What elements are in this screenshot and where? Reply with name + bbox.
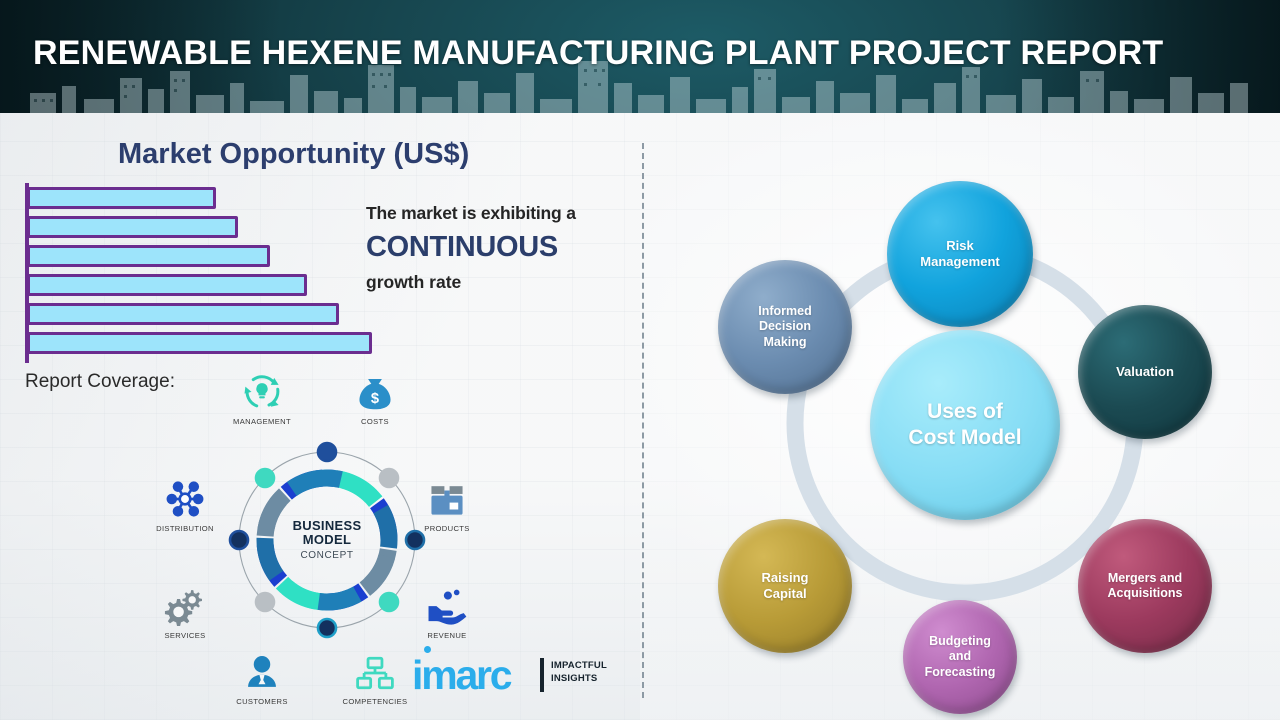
svg-text:$: $	[371, 391, 379, 407]
donut-subtitle: CONCEPT	[300, 550, 353, 561]
bar-row	[27, 274, 307, 296]
open-box-icon	[401, 473, 493, 519]
recycle-lightbulb-icon	[216, 366, 308, 412]
bar-row	[27, 332, 372, 354]
coverage-label-costs: COSTS	[329, 417, 421, 426]
page-header: RENEWABLE HEXENE MANUFACTURING PLANT PRO…	[0, 0, 1280, 113]
logo-tagline: IMPACTFUL INSIGHTS	[551, 660, 607, 686]
node-label-informed-decision-making: InformedDecisionMaking	[752, 304, 817, 350]
node-raising-capital[interactable]: RaisingCapital	[718, 519, 852, 653]
logo-wordmark: imarc	[412, 655, 510, 696]
coverage-label-management: MANAGEMENT	[216, 417, 308, 426]
coverage-item-distribution: DISTRIBUTION	[139, 473, 231, 533]
node-label-valuation: Valuation	[1110, 364, 1180, 380]
callout-line-3: growth rate	[366, 272, 641, 293]
vertical-dashed-divider	[642, 143, 644, 698]
uses-of-cost-model-diagram: RiskManagement Valuation Mergers andAcqu…	[660, 123, 1280, 713]
node-informed-decision-making[interactable]: InformedDecisionMaking	[718, 260, 852, 394]
org-chart-icon	[329, 646, 421, 692]
node-label-mergers-acquisitions: Mergers andAcquisitions	[1101, 571, 1188, 602]
logo-divider-bar	[540, 658, 544, 692]
network-nodes-icon	[139, 473, 231, 519]
callout-line-1: The market is exhibiting a	[366, 203, 641, 224]
bar-row	[27, 216, 238, 238]
callout-highlight: CONTINUOUS	[366, 231, 641, 264]
imarc-logo: imarc IMPACTFUL INSIGHTS	[412, 655, 510, 701]
market-opportunity-bar-chart	[25, 183, 425, 363]
coverage-item-competencies: COMPETENCIES	[329, 646, 421, 706]
bar-row	[27, 187, 216, 209]
node-label-risk-management: RiskManagement	[914, 238, 1005, 270]
donut-title-line2: MODEL	[303, 533, 351, 548]
coverage-label-services: SERVICES	[139, 631, 231, 640]
market-opportunity-title: Market Opportunity (US$)	[118, 138, 469, 171]
money-bag-icon: $	[329, 366, 421, 412]
coverage-item-customers: CUSTOMERS	[216, 646, 308, 706]
node-label-center: Uses ofCost Model	[902, 399, 1027, 450]
coverage-item-management: MANAGEMENT	[216, 366, 308, 426]
logo-tagline-line1: IMPACTFUL	[551, 660, 607, 673]
coverage-item-costs: $ COSTS	[329, 366, 421, 426]
node-label-raising-capital: RaisingCapital	[756, 570, 815, 602]
coverage-label-revenue: REVENUE	[401, 631, 493, 640]
coverage-item-revenue: REVENUE	[401, 580, 493, 640]
page-title: RENEWABLE HEXENE MANUFACTURING PLANT PRO…	[33, 34, 1163, 73]
node-risk-management[interactable]: RiskManagement	[887, 181, 1033, 327]
coverage-label-competencies: COMPETENCIES	[329, 697, 421, 706]
coverage-label-distribution: DISTRIBUTION	[139, 524, 231, 533]
coverage-item-services: SERVICES	[139, 580, 231, 640]
business-model-donut: BUSINESS MODEL CONCEPT	[247, 460, 407, 620]
logo-tagline-line2: INSIGHTS	[551, 673, 607, 686]
donut-title-line1: BUSINESS	[293, 519, 362, 534]
logo-dot	[424, 646, 431, 653]
hand-coins-icon	[401, 580, 493, 626]
growth-callout: The market is exhibiting a CONTINUOUS gr…	[366, 203, 641, 293]
node-mergers-acquisitions[interactable]: Mergers andAcquisitions	[1078, 519, 1212, 653]
coverage-label-customers: CUSTOMERS	[216, 697, 308, 706]
node-valuation[interactable]: Valuation	[1078, 305, 1212, 439]
bar-row	[27, 245, 270, 267]
person-icon	[216, 646, 308, 692]
donut-center-text: BUSINESS MODEL CONCEPT	[247, 460, 407, 620]
slide-body: Market Opportunity (US$) The market is e…	[0, 113, 1280, 720]
node-budgeting-forecasting[interactable]: BudgetingandForecasting	[903, 600, 1017, 714]
bar-row	[27, 303, 339, 325]
node-label-budgeting-forecasting: BudgetingandForecasting	[919, 634, 1002, 680]
coverage-label-products: PRODUCTS	[401, 524, 493, 533]
node-center-uses-of-cost-model: Uses ofCost Model	[870, 330, 1060, 520]
gears-icon	[139, 580, 231, 626]
coverage-item-products: PRODUCTS	[401, 473, 493, 533]
